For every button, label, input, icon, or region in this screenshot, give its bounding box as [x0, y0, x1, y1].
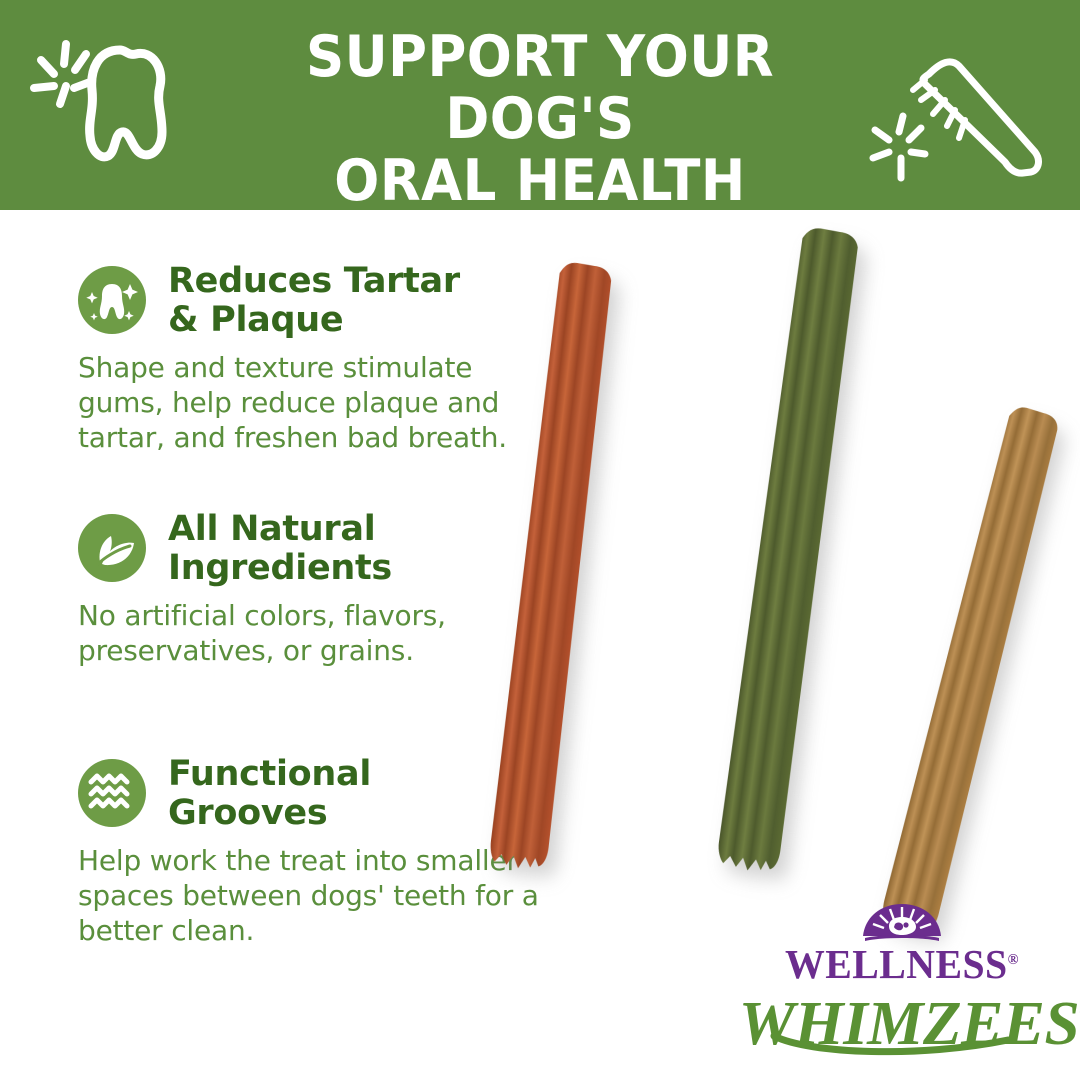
feature-title: Reduces Tartar & Plaque [78, 262, 548, 340]
feature-item-all-natural: All Natural Ingredients No artificial co… [78, 510, 548, 668]
feature-header: Functional Grooves [78, 755, 548, 833]
logo-wellness-text: WELLNESS® [747, 938, 1057, 986]
feature-header: All Natural Ingredients [78, 510, 548, 588]
toothbrush-sparkle-icon [855, 32, 1055, 197]
brand-logo: WELLNESS® WHIMZEES® [742, 902, 1062, 1054]
feature-title-line-1: All Natural [168, 509, 375, 549]
logo-swash-underline [770, 1032, 1040, 1063]
tooth-sparkle-icon [28, 28, 178, 183]
feature-title: Functional Grooves [78, 755, 548, 833]
product-feature-graphic: SUPPORT YOUR DOG'S ORAL HEALTH [0, 0, 1080, 1080]
registered-mark: ® [1008, 952, 1019, 968]
green-dental-stick [712, 224, 864, 887]
banner-title-line-2: ORAL HEALTH [205, 150, 875, 212]
header-banner: SUPPORT YOUR DOG'S ORAL HEALTH [0, 0, 1080, 210]
feature-title-line-1: Reduces Tartar [168, 261, 460, 301]
feature-body: Help work the treat into smaller spaces … [78, 843, 548, 948]
feature-item-reduces-tartar: Reduces Tartar & Plaque Shape and textur… [78, 262, 548, 455]
tooth-sparkle-icon [78, 266, 146, 334]
red-dental-stick [485, 258, 617, 881]
feature-title-line-1: Functional [168, 754, 371, 794]
leaf-icon [78, 514, 146, 582]
feature-item-functional-grooves: Functional Grooves Help work the treat i… [78, 755, 548, 948]
feature-body: Shape and texture stimulate gums, help r… [78, 350, 548, 455]
feature-body: No artificial colors, flavors, preservat… [78, 598, 548, 668]
feature-title: All Natural Ingredients [78, 510, 548, 588]
banner-title: SUPPORT YOUR DOG'S ORAL HEALTH [205, 26, 875, 212]
tan-dental-stick [875, 401, 1065, 944]
wavy-grooves-icon [78, 759, 146, 827]
feature-list: Reduces Tartar & Plaque Shape and textur… [0, 210, 560, 1030]
feature-title-line-2: Ingredients [168, 548, 392, 588]
feature-header: Reduces Tartar & Plaque [78, 262, 548, 340]
feature-title-line-2: & Plaque [168, 300, 343, 340]
banner-title-line-1: SUPPORT YOUR DOG'S [205, 26, 875, 150]
product-image-group [500, 215, 1080, 945]
feature-title-line-2: Grooves [168, 793, 327, 833]
